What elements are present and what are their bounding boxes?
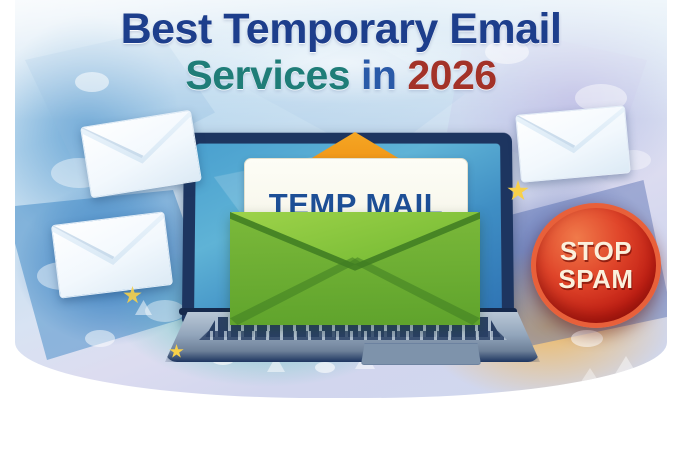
laptop-trackpad bbox=[361, 343, 481, 365]
envelope-icon-left-lower bbox=[51, 211, 173, 298]
headline-word-in: in bbox=[361, 52, 396, 98]
envelope-icon-right bbox=[515, 105, 631, 182]
headline: Best Temporary Email Services in 2026 bbox=[0, 8, 682, 97]
stop-spam-line-1: STOP bbox=[560, 239, 632, 265]
laptop-keyboard-row bbox=[199, 331, 507, 340]
confetti-blob bbox=[85, 330, 115, 347]
stop-spam-badge: STOP SPAM bbox=[531, 203, 661, 328]
headline-line-2: Services in 2026 bbox=[0, 55, 682, 97]
confetti-triangle bbox=[615, 356, 637, 374]
stop-spam-line-2: SPAM bbox=[558, 267, 633, 293]
confetti-blob bbox=[571, 330, 603, 347]
confetti-triangle bbox=[577, 368, 603, 388]
temp-mail-envelope: TEMP MAIL bbox=[230, 160, 480, 325]
headline-word-services: Services bbox=[185, 52, 350, 98]
headline-year: 2026 bbox=[407, 52, 496, 98]
screenshot-root: TEMP MAIL STOP SPAM Best Temporary Email… bbox=[0, 0, 682, 455]
headline-line-1: Best Temporary Email bbox=[0, 8, 682, 52]
envelope-body-green bbox=[230, 212, 480, 325]
